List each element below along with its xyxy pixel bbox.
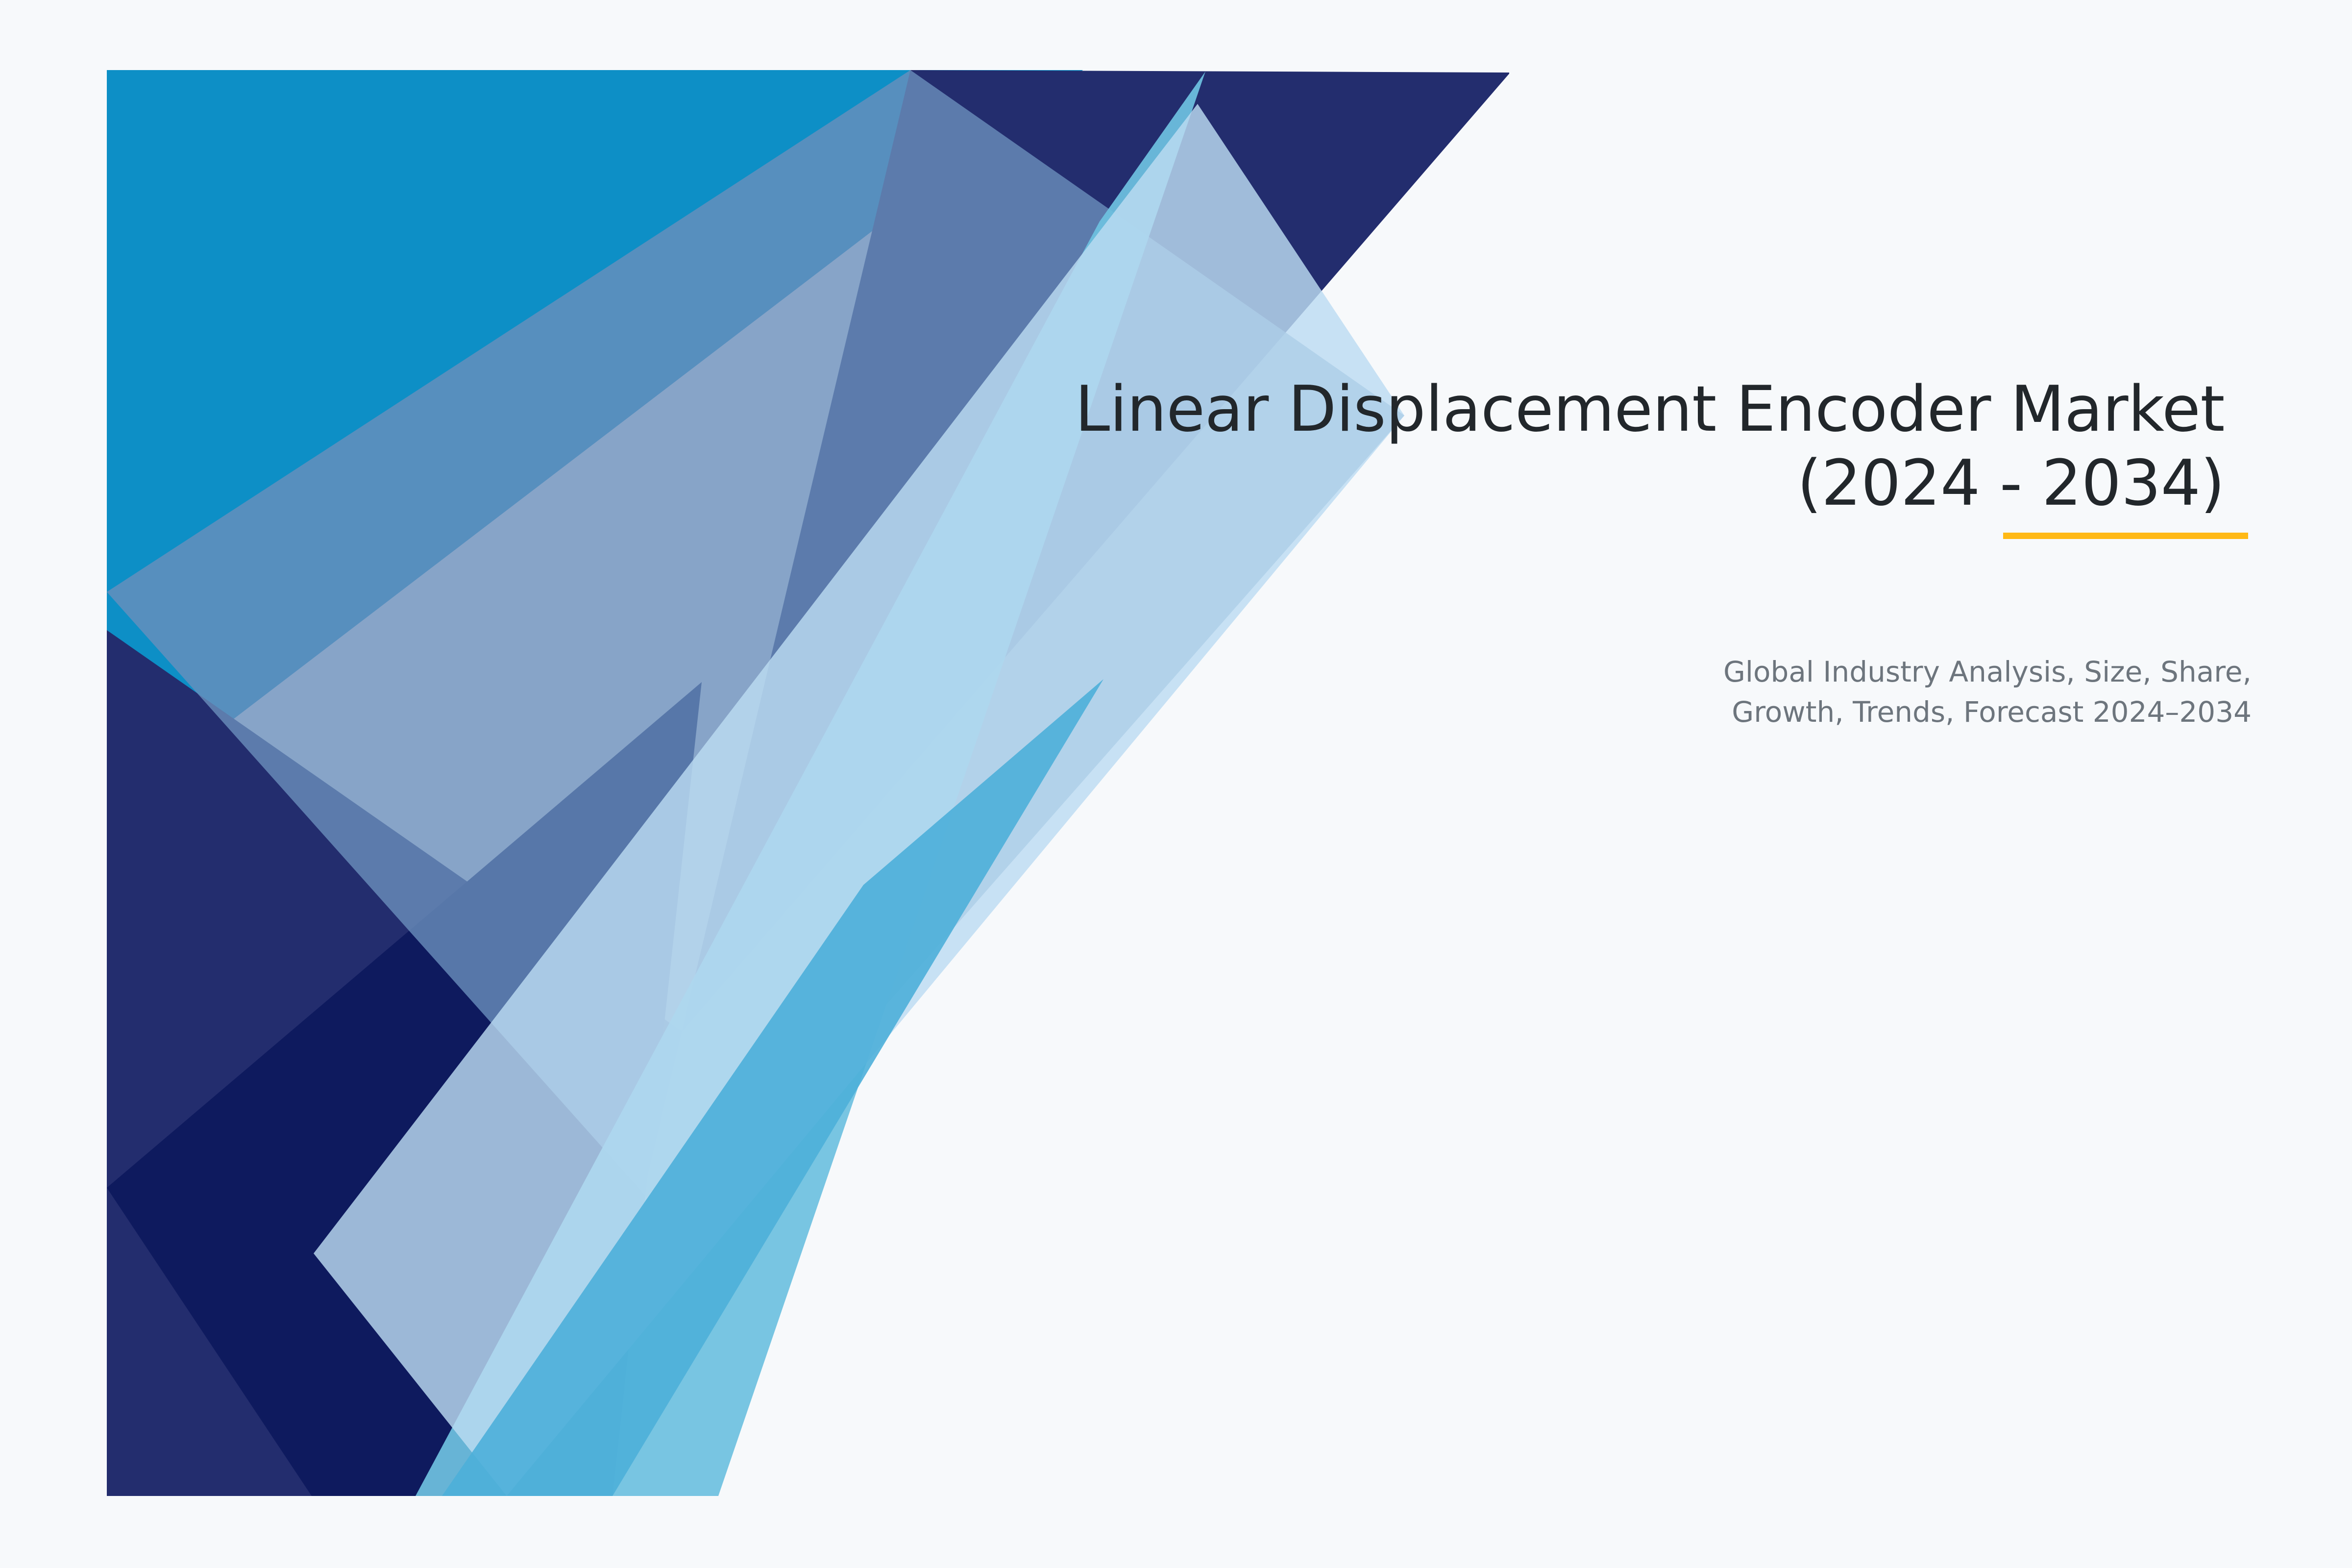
shape-pale-blue-diamond [314,104,1404,1496]
subtitle-block: Global Industry Analysis, Size, Share, G… [1421,652,2252,733]
page-title: Linear Displacement Encoder Market (2024… [833,372,2225,520]
shape-navy-top-right-field [107,70,1510,1496]
title-accent-underline [2003,533,2248,539]
cover-artwork [0,0,2352,1568]
shape-mid-blue-right-sliver [442,679,1103,1496]
shape-deep-navy-lower-wedge [107,682,702,1496]
shape-sky-blue-diagonal-band [416,72,1205,1496]
page-subtitle: Global Industry Analysis, Size, Share, G… [1421,652,2252,733]
shape-slate-blue-quad [107,70,1404,1237]
cover-page: Linear Displacement Encoder Market (2024… [0,0,2352,1568]
title-block: Linear Displacement Encoder Market (2024… [833,372,2225,520]
